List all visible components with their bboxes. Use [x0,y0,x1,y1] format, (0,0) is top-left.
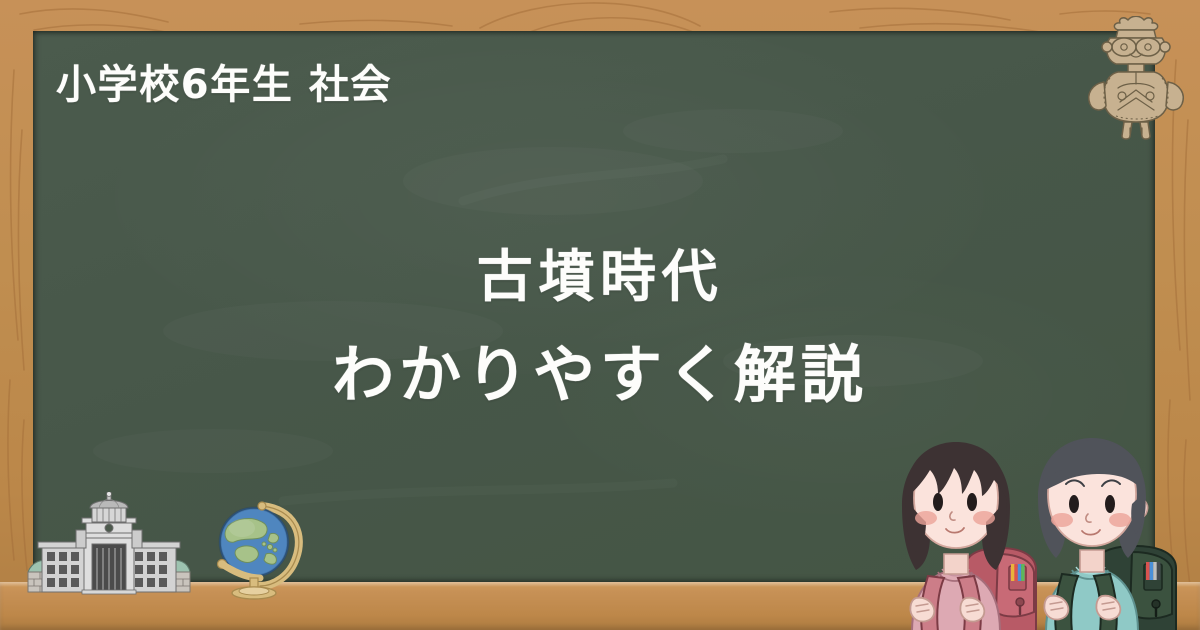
boy-student [1038,438,1176,630]
dogu-figurine-icon [1084,16,1188,140]
pencils [1146,562,1160,580]
diet-building-icon [26,492,192,600]
girl-student [902,442,1036,630]
pencils [1011,564,1025,581]
grade-subject-header: 小学校6年生 社会 [56,52,392,110]
title-line-two: わかりやすく解説 [0,324,1200,414]
globe-icon [208,492,312,602]
thumbnail-canvas: 小学校6年生 社会 古墳時代 わかりやすく解説 [0,0,1200,630]
title-line-one: 古墳時代 [0,232,1200,313]
students-illustration [870,436,1200,630]
